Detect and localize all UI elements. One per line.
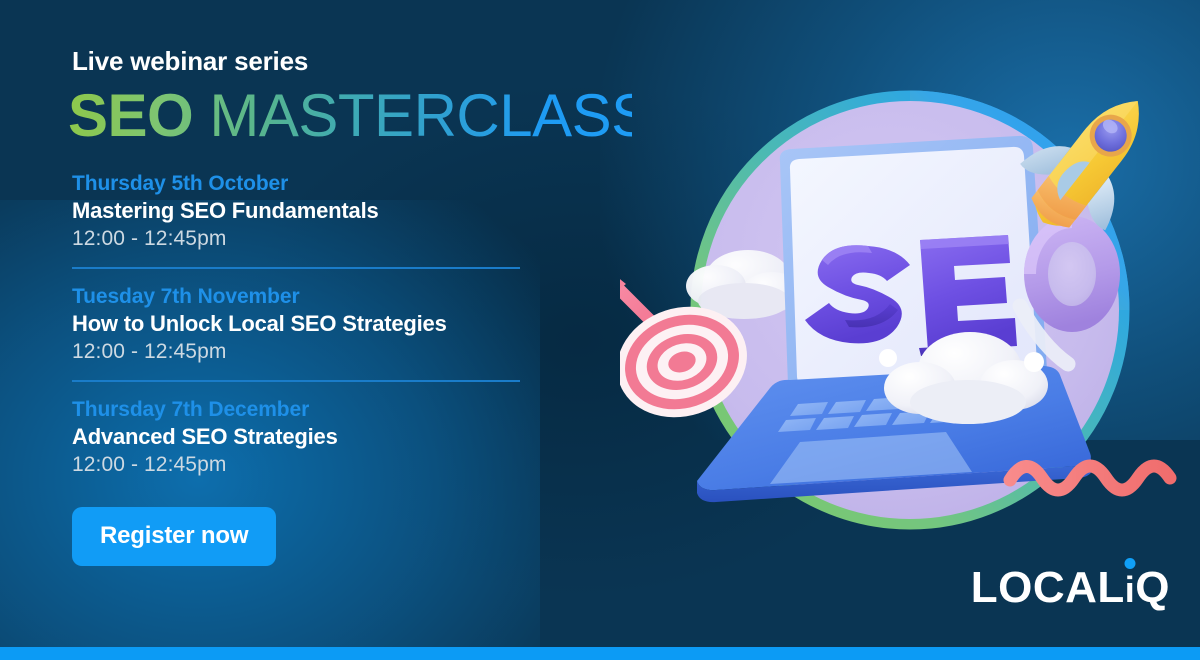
logo-dotted-i: i <box>1125 572 1136 608</box>
session-date: Thursday 7th December <box>72 398 632 422</box>
hero-illustration <box>620 70 1180 550</box>
bottom-accent-bar <box>0 647 1200 660</box>
divider <box>72 267 520 269</box>
localiq-logo: LOCALiQ <box>971 566 1170 610</box>
register-now-button[interactable]: Register now <box>72 507 276 566</box>
session-time: 12:00 - 12:45pm <box>72 227 632 267</box>
divider <box>72 380 520 382</box>
session-time: 12:00 - 12:45pm <box>72 340 632 380</box>
logo-text-part-one: LOCAL <box>971 566 1125 610</box>
webinar-promo-banner: Live webinar series SEO MASTERCLASS Thur… <box>0 0 1200 660</box>
logo-text-part-two: Q <box>1135 566 1170 610</box>
session-date: Thursday 5th October <box>72 172 632 196</box>
session-date: Tuesday 7th November <box>72 285 632 309</box>
session-title: Advanced SEO Strategies <box>72 424 632 450</box>
headline-strong-text: SEO <box>68 82 193 149</box>
banner-content: Live webinar series SEO MASTERCLASS Thur… <box>72 46 632 566</box>
list-item: Thursday 5th October Mastering SEO Funda… <box>72 172 632 267</box>
headline-light-text: MASTERCLASS <box>193 82 650 149</box>
session-time: 12:00 - 12:45pm <box>72 453 632 493</box>
session-title: How to Unlock Local SEO Strategies <box>72 311 632 337</box>
session-list: Thursday 5th October Mastering SEO Funda… <box>72 172 632 493</box>
eyebrow-label: Live webinar series <box>72 46 632 77</box>
session-title: Mastering SEO Fundamentals <box>72 198 632 224</box>
page-title: SEO MASTERCLASS <box>68 85 632 146</box>
list-item: Tuesday 7th November How to Unlock Local… <box>72 267 632 380</box>
list-item: Thursday 7th December Advanced SEO Strat… <box>72 380 632 493</box>
